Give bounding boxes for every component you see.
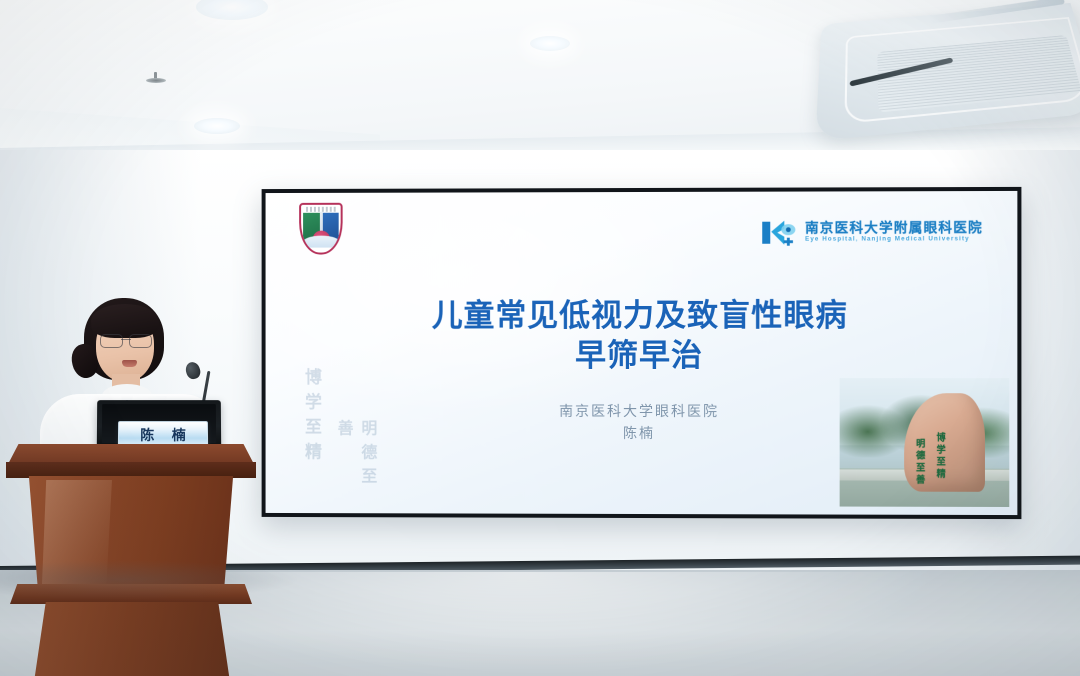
speaker-nameplate-text: 陈 楠 <box>133 425 193 445</box>
hospital-name-cn: 南京医科大学附属眼科医院 <box>805 222 983 237</box>
eye-hospital-logo-mark-icon <box>760 218 798 248</box>
slide-title-line1: 儿童常见低视力及致盲性眼病 <box>266 296 1018 337</box>
university-crest-icon <box>299 203 342 255</box>
slide-title-line2: 早筛早治 <box>266 336 1018 377</box>
hospital-logo-text: 南京医科大学附属眼科医院 Eye Hospital, Nanjing Medic… <box>805 222 983 244</box>
slide-surface: 南京医科大学附属眼科医院 Eye Hospital, Nanjing Medic… <box>266 191 1018 515</box>
lecture-hall-photo: 南京医科大学附属眼科医院 Eye Hospital, Nanjing Medic… <box>0 0 1080 676</box>
ceiling-downlight-icon <box>530 36 570 51</box>
speaker-hair-front <box>91 304 159 338</box>
podium-top-face <box>6 462 256 478</box>
stone-inscription-line2: 明德至善 <box>914 438 927 486</box>
hospital-name-en: Eye Hospital, Nanjing Medical University <box>805 237 983 244</box>
podium-floor-shadow <box>0 560 300 600</box>
ceiling-downlight-icon <box>194 118 240 134</box>
speaker-mouth <box>122 360 137 367</box>
sprinkler-head-icon <box>146 72 166 84</box>
campus-stone-monument-photo: 博学至精 明德至善 <box>840 378 1010 507</box>
projection-screen: 南京医科大学附属眼科医院 Eye Hospital, Nanjing Medic… <box>262 187 1022 519</box>
hospital-logo: 南京医科大学附属眼科医院 Eye Hospital, Nanjing Medic… <box>760 217 983 248</box>
glasses-icon <box>100 334 152 346</box>
podium-pillar <box>34 602 230 676</box>
slide-title: 儿童常见低视力及致盲性眼病 早筛早治 <box>266 296 1018 377</box>
stone-inscription-line1: 博学至精 <box>935 433 948 481</box>
